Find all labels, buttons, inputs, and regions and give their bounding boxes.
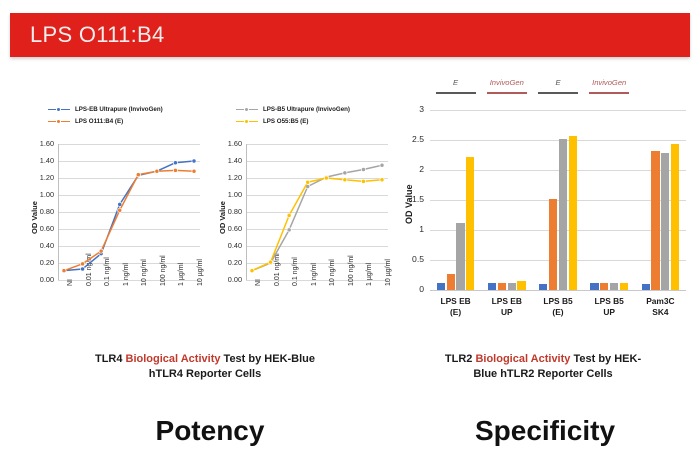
- bar: [549, 199, 557, 290]
- legend-swatch-icon: [48, 118, 70, 125]
- x-axis-tick-label: LPS B5UP: [581, 296, 637, 318]
- legend-item-label: LPS O111:B4 (E): [75, 118, 123, 125]
- data-point: [173, 161, 177, 165]
- group-annotation-underline: [436, 92, 476, 94]
- bar: [456, 223, 464, 290]
- x-axis-tick-line1: LPS EB: [492, 296, 522, 306]
- bar: [508, 283, 516, 290]
- chart-tlr4-line: OD Value0.000.200.400.600.801.001.201.40…: [26, 138, 206, 338]
- bar: [620, 283, 628, 290]
- y-axis-tick-label: 2: [406, 164, 424, 174]
- x-axis-tick-line1: LPS EB: [440, 296, 470, 306]
- bar: [466, 157, 474, 290]
- data-point: [268, 260, 272, 264]
- data-point: [80, 267, 84, 271]
- x-axis-tick-line1: LPS B5: [595, 296, 624, 306]
- group-annotation-label: InvivoGen: [577, 78, 641, 87]
- data-point: [361, 179, 365, 183]
- data-point: [250, 269, 254, 273]
- bar: [569, 136, 577, 290]
- bar: [590, 283, 598, 290]
- data-point: [380, 178, 384, 182]
- gridline: [430, 290, 686, 291]
- y-axis-tick-label: 1: [406, 224, 424, 234]
- slide-root: LPS O111:B4 LPS-EB Ultrapure (InvivoGen)…: [0, 0, 700, 463]
- caption-right: TLR2 Biological Activity Test by HEK- Bl…: [398, 352, 688, 382]
- bar: [517, 281, 525, 290]
- data-point: [118, 202, 122, 206]
- line-path: [64, 161, 194, 271]
- chart-tlr2-bar: OD Value00.511.522.53LPS EB(E)LPS EBUPLP…: [404, 78, 694, 338]
- data-point: [136, 173, 140, 177]
- legend-item: LPS O111:B4 (E): [48, 118, 163, 125]
- bar: [610, 283, 618, 290]
- x-axis-tick-line2: (E): [450, 307, 461, 317]
- group-annotation-underline: [589, 92, 629, 94]
- caption-left-post: Test by HEK-Blue: [220, 353, 315, 365]
- legend-swatch-icon: [48, 106, 70, 113]
- x-axis-tick-line2: UP: [501, 307, 513, 317]
- caption-left-pre: TLR4: [95, 353, 126, 365]
- caption-left-line2: hTLR4 Reporter Cells: [149, 368, 261, 380]
- data-point: [80, 262, 84, 266]
- caption-left: TLR4 Biological Activity Test by HEK-Blu…: [20, 352, 390, 382]
- page-title: LPS O111:B4: [30, 22, 165, 48]
- data-point: [173, 168, 177, 172]
- line-path: [252, 178, 382, 271]
- x-axis-tick-line1: Pam3C: [646, 296, 674, 306]
- x-axis-tick-label: LPS EB(E): [428, 296, 484, 318]
- data-point: [361, 167, 365, 171]
- gridline: [430, 110, 686, 111]
- x-axis-tick-label: Pam3CSK4: [632, 296, 688, 318]
- footer-label-specificity: Specificity: [400, 415, 690, 447]
- data-point: [324, 176, 328, 180]
- data-point: [287, 213, 291, 217]
- line-path: [64, 170, 194, 270]
- data-point: [287, 228, 291, 232]
- bar: [447, 274, 455, 290]
- data-point: [118, 208, 122, 212]
- bar: [437, 283, 445, 290]
- data-point: [192, 169, 196, 173]
- bar: [661, 153, 669, 290]
- data-point: [306, 180, 310, 184]
- footer-label-potency: Potency: [60, 415, 360, 447]
- caption-right-post: Test by HEK-: [570, 353, 641, 365]
- caption-right-pre: TLR2: [445, 353, 476, 365]
- line-series-plot: [26, 138, 206, 338]
- y-axis-tick-label: 0: [406, 284, 424, 294]
- data-point: [343, 171, 347, 175]
- data-point: [99, 249, 103, 253]
- legend-item: LPS O55:B5 (E): [236, 118, 350, 125]
- line-series-plot: [214, 138, 394, 338]
- y-axis-label: OD Value: [404, 184, 414, 224]
- legend-tlr4-b5: LPS-B5 Ultrapure (InvivoGen)LPS O55:B5 (…: [236, 106, 350, 130]
- caption-right-line2: Blue hTLR2 Reporter Cells: [473, 368, 612, 380]
- bar: [651, 151, 659, 290]
- y-axis-tick-label: 0.5: [406, 254, 424, 264]
- legend-tlr4-eb: LPS-EB Ultrapure (InvivoGen)LPS O111:B4 …: [48, 106, 163, 130]
- x-axis-tick-label: LPS EBUP: [479, 296, 535, 318]
- legend-item-label: LPS O55:B5 (E): [263, 118, 308, 125]
- bar: [488, 283, 496, 290]
- caption-left-highlight: Biological Activity: [126, 353, 221, 365]
- caption-right-highlight: Biological Activity: [475, 353, 570, 365]
- group-annotation-underline: [487, 92, 527, 94]
- data-point: [343, 178, 347, 182]
- bar: [600, 283, 608, 290]
- y-axis-tick-label: 2.5: [406, 134, 424, 144]
- bar: [671, 144, 679, 290]
- x-axis-tick-line2: SK4: [652, 307, 668, 317]
- legend-item: LPS-B5 Ultrapure (InvivoGen): [236, 106, 350, 113]
- data-point: [380, 163, 384, 167]
- legend-swatch-icon: [236, 118, 258, 125]
- legend-item-label: LPS-EB Ultrapure (InvivoGen): [75, 106, 163, 113]
- x-axis-tick-line2: UP: [603, 307, 615, 317]
- data-point: [192, 159, 196, 163]
- bar: [642, 284, 650, 290]
- bar: [559, 139, 567, 290]
- bar: [539, 284, 547, 290]
- legend-item: LPS-EB Ultrapure (InvivoGen): [48, 106, 163, 113]
- header-banner: LPS O111:B4: [10, 13, 690, 57]
- group-annotation-underline: [538, 92, 578, 94]
- x-axis-tick-label: LPS B5(E): [530, 296, 586, 318]
- chart-tlr4-line-b5: OD Value0.000.200.400.600.801.001.201.40…: [214, 138, 394, 338]
- x-axis-tick-line1: LPS B5: [543, 296, 572, 306]
- bar: [498, 283, 506, 290]
- data-point: [62, 269, 66, 273]
- y-axis-tick-label: 1.5: [406, 194, 424, 204]
- data-point: [155, 169, 159, 173]
- y-axis-tick-label: 3: [406, 104, 424, 114]
- legend-swatch-icon: [236, 106, 258, 113]
- legend-item-label: LPS-B5 Ultrapure (InvivoGen): [263, 106, 350, 113]
- x-axis-tick-line2: (E): [552, 307, 563, 317]
